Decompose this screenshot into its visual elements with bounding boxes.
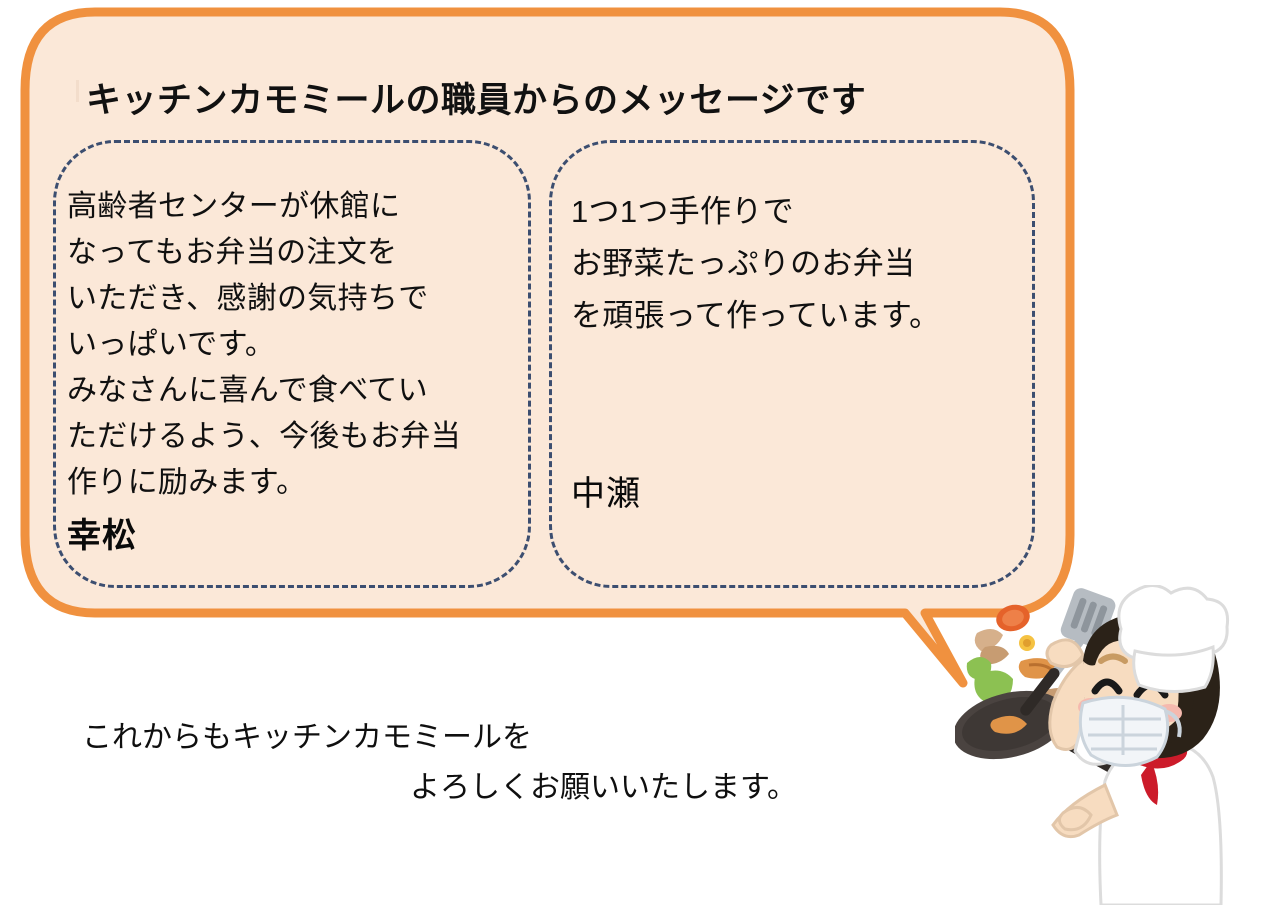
closing-line-2: よろしくお願いいたします。	[410, 762, 797, 806]
chef-hat-band	[1134, 647, 1214, 692]
corn-kernel-icon-2	[1023, 639, 1031, 647]
cooking-chef-illustration	[955, 585, 1280, 905]
chef-hand-left	[1047, 640, 1083, 667]
note-right-signature: 中瀬	[571, 466, 641, 515]
note-right-body: 1つ1つ手作りで お野菜たっぷりのお弁当 を頑張って作っています。	[571, 186, 1031, 342]
title-left-artifact	[76, 80, 79, 102]
closing-line-1: これからもキッチンカモミールを	[82, 712, 532, 756]
bubble-title: キッチンカモミールの職員からのメッセージです	[86, 72, 866, 123]
note-left-body: 高齢者センターが休館に なってもお弁当の注文を いただき、感謝の気持ちで いっぱ…	[67, 184, 517, 506]
note-left-signature: 幸松	[67, 508, 137, 557]
chef-hat-group	[1119, 585, 1228, 691]
